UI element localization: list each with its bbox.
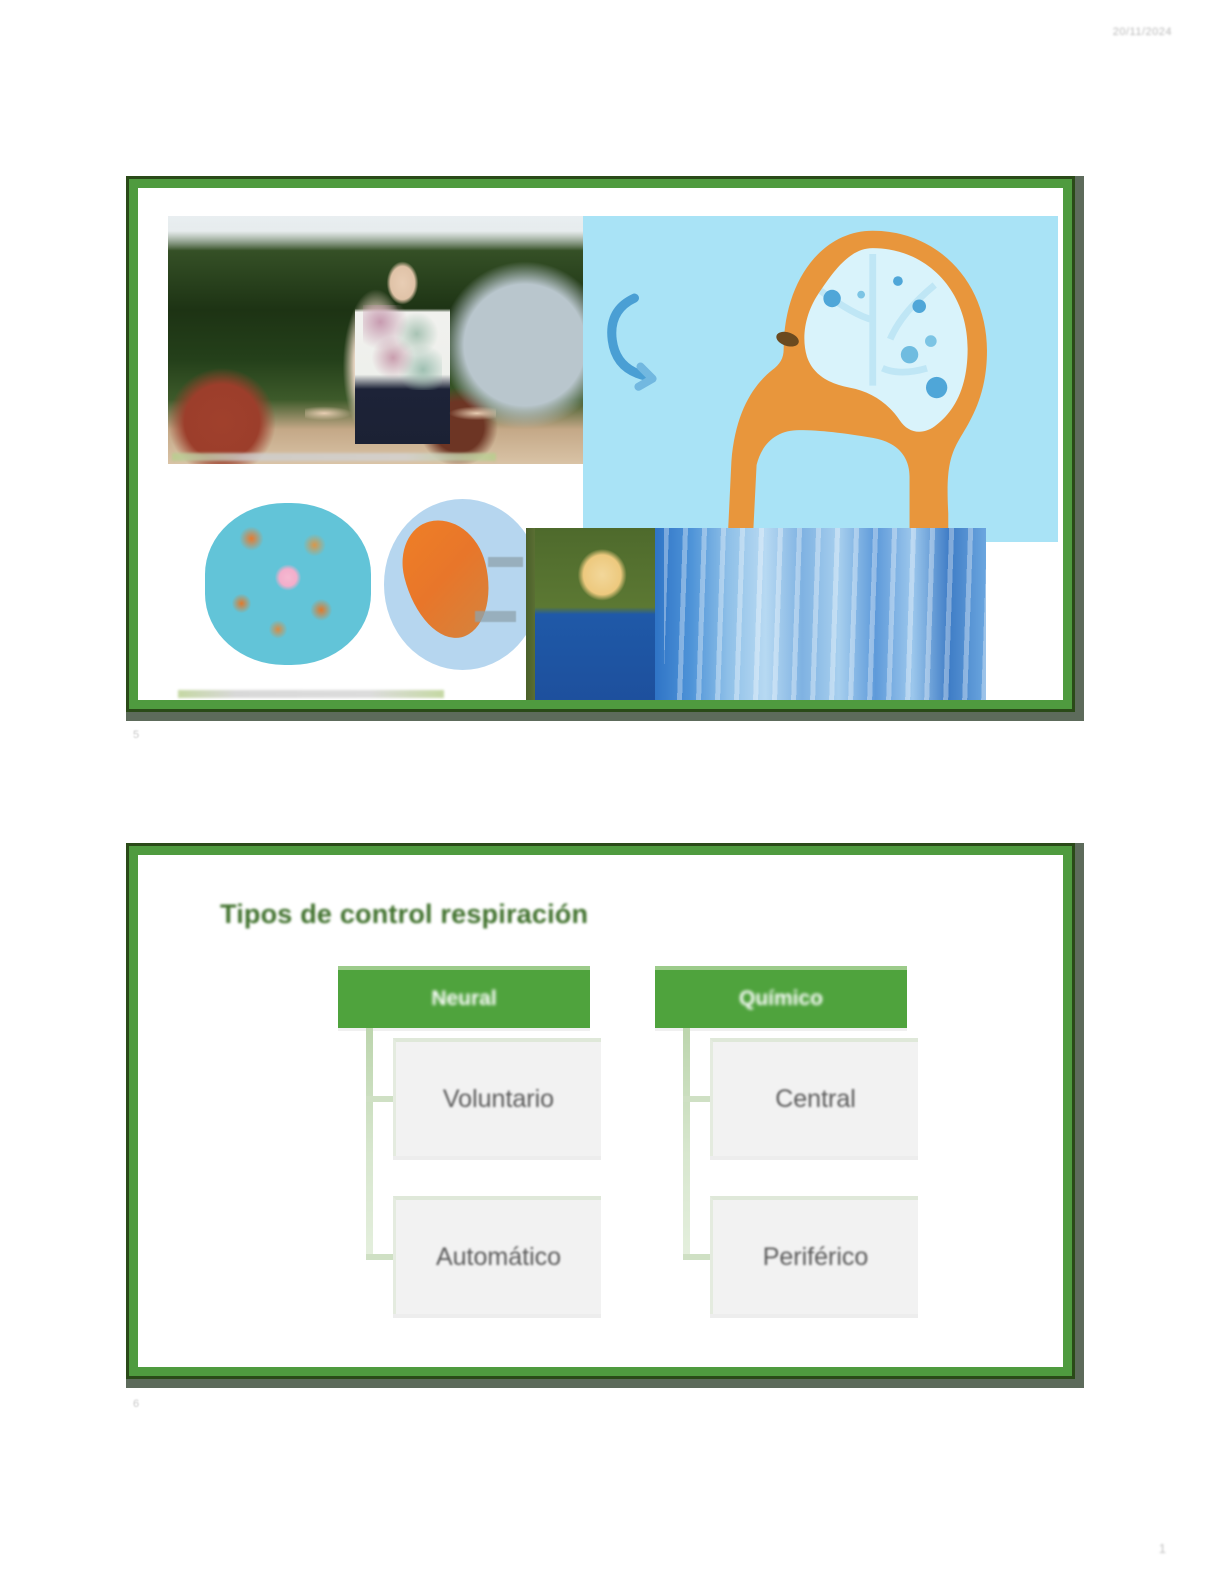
slide-2-content: Tipos de control respiración Neural Volu…: [138, 855, 1063, 1367]
slide-1[interactable]: [126, 176, 1084, 721]
brain-dot: [926, 376, 947, 397]
brain-dot: [925, 335, 937, 347]
yoga-meditation-photo: [168, 216, 583, 464]
node-quimico[interactable]: Químico: [655, 966, 907, 1028]
slide-1-frame: [126, 176, 1075, 712]
node-automatico[interactable]: Automático: [393, 1196, 601, 1314]
node-neural[interactable]: Neural: [338, 966, 590, 1028]
mito-label-2: [475, 611, 516, 621]
mitochondrion-shape: [393, 511, 502, 647]
slide-1-marker: 5: [133, 729, 139, 741]
node-periferico[interactable]: Periférico: [710, 1196, 918, 1314]
control-types-diagram: Neural Voluntario Automático: [172, 966, 1029, 1366]
brain-dot: [912, 299, 926, 313]
brain-dot: [857, 290, 865, 298]
page-number: 1: [1159, 1541, 1166, 1556]
cell-diagram-caption: [178, 690, 444, 698]
node-voluntario[interactable]: Voluntario: [393, 1038, 601, 1156]
airflow-arrow-icon: [593, 288, 688, 399]
spine-wave-pattern: [664, 528, 986, 700]
slide-2-frame: Tipos de control respiración Neural Volu…: [126, 843, 1075, 1379]
page-header-date: 20/11/2024: [1113, 26, 1172, 38]
node-central-label: Central: [775, 1085, 856, 1114]
yoga-photo-caption: [172, 453, 496, 461]
connector-vertical-left: [366, 1028, 373, 1258]
branch-neural: Neural Voluntario Automático: [338, 966, 678, 1028]
node-quimico-label: Químico: [739, 987, 823, 1011]
node-neural-label: Neural: [431, 987, 496, 1011]
cell-body: [205, 503, 371, 665]
slide-2-marker: 6: [133, 1398, 139, 1410]
branch-quimico: Químico Central Periférico: [655, 966, 995, 1028]
slide-title: Tipos de control respiración: [220, 899, 1029, 930]
brain-dot: [901, 345, 918, 362]
head-brain-breathing-illustration: [583, 216, 1058, 542]
cell-mitochondria-diagram: [168, 476, 583, 700]
brain-dot: [823, 289, 840, 306]
slide-1-content: [138, 188, 1063, 700]
mito-label-1: [488, 557, 523, 567]
person-spine-dna-photo: [526, 528, 986, 700]
node-automatico-label: Automático: [436, 1243, 561, 1272]
diagram-slide-body: Tipos de control respiración Neural Volu…: [138, 855, 1063, 1367]
node-periferico-label: Periférico: [763, 1243, 869, 1272]
yoga-arms: [305, 360, 496, 434]
spine-person-figure: [535, 528, 655, 700]
image-collage: [138, 188, 1063, 700]
node-central[interactable]: Central: [710, 1038, 918, 1156]
node-voluntario-label: Voluntario: [443, 1085, 554, 1114]
head-profile-svg: [697, 223, 1049, 542]
slide-2[interactable]: Tipos de control respiración Neural Volu…: [126, 843, 1084, 1388]
brain-dot: [893, 276, 903, 286]
connector-vertical-right: [683, 1028, 690, 1258]
cell-zoom-circle: [384, 499, 542, 670]
